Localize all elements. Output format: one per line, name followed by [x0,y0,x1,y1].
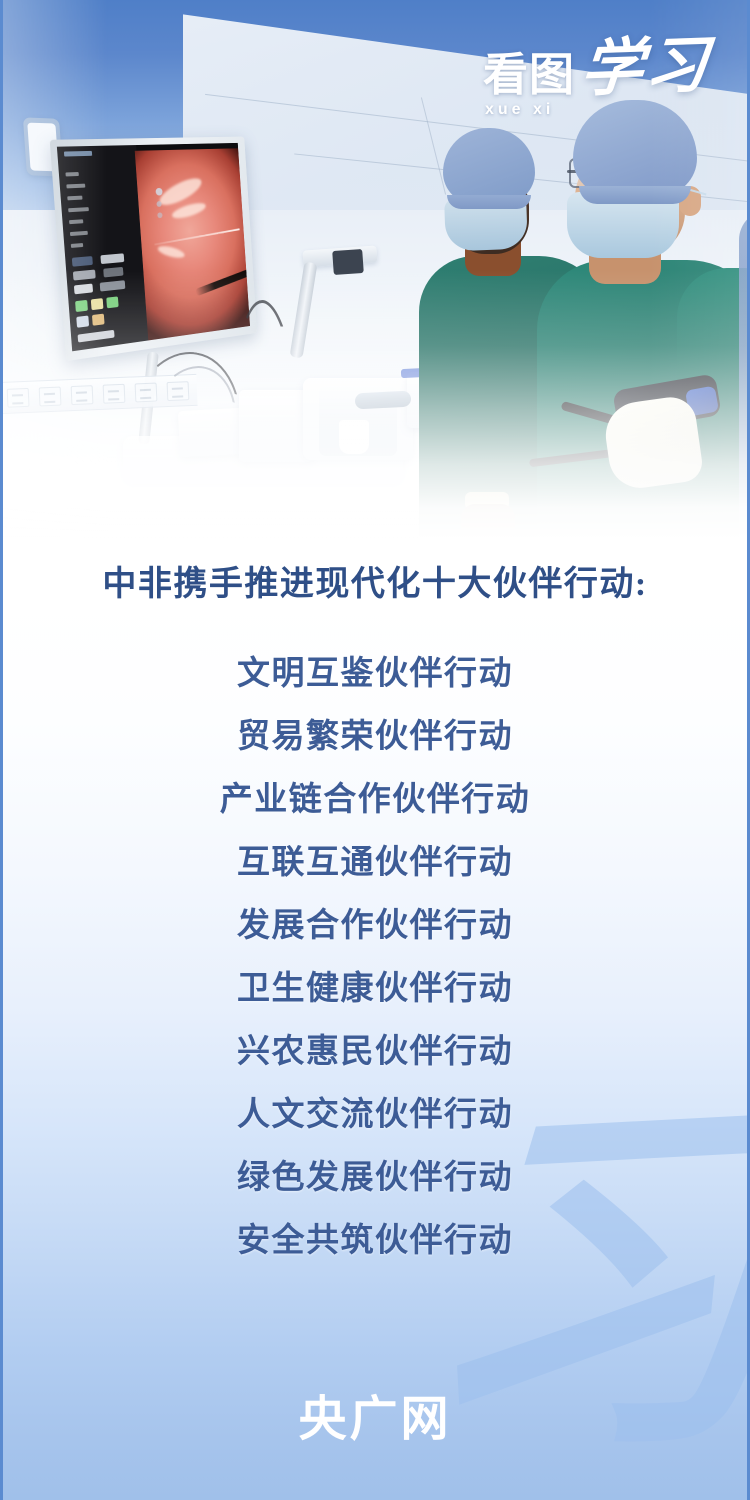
brand-logo: 看图 学习 xue xi [483,52,709,119]
list-item: 安全共筑伙伴行动 [3,1210,747,1273]
scope-shadow [195,270,248,297]
surgical-cap [443,128,535,204]
brand-logo-pinyin: xue xi [485,101,709,119]
surgeon-hand [461,504,515,540]
endoscopy-monitor [50,137,258,362]
surgeon-front [549,100,750,540]
endoscopy-image [135,148,250,340]
scope-wire [154,228,239,245]
footer: 央广网 [3,1340,747,1500]
monitor-bezel [50,137,258,362]
list-item: 文明互鉴伙伴行动 [3,643,747,706]
brand-logo-row: 看图 学习 [483,52,709,97]
brand-logo-primary: 看图 [483,52,575,97]
list-item: 互联互通伙伴行动 [3,832,747,895]
list-item: 发展合作伙伴行动 [3,895,747,958]
list-item: 人文交流伙伴行动 [3,1084,747,1147]
list-item: 产业链合作伙伴行动 [3,769,747,832]
footer-brand-logo: 央广网 [298,1396,451,1444]
list-item: 卫生健康伙伴行动 [3,958,747,1021]
list-item: 兴农惠民伙伴行动 [3,1021,747,1084]
monitor-brand-mark [64,151,92,157]
monitor-screen [57,143,250,351]
poster-root: 看图 学习 xue xi 习 中非携手推进现代化十大伙伴行动: 文明互鉴伙伴行动… [0,0,750,1500]
partnership-action-list: 文明互鉴伙伴行动 贸易繁荣伙伴行动 产业链合作伙伴行动 互联互通伙伴行动 发展合… [3,643,747,1273]
instrument-tray [355,391,412,410]
content-area: 中非携手推进现代化十大伙伴行动: 文明互鉴伙伴行动 贸易繁荣伙伴行动 产业链合作… [3,556,747,1273]
list-item: 贸易繁荣伙伴行动 [3,706,747,769]
surgical-glove [601,394,704,492]
brand-logo-script: 学习 [578,38,711,99]
boom-camera-head [332,249,364,275]
surgeon-partial [739,210,750,540]
console-notch [339,420,369,454]
page-title: 中非携手推进现代化十大伙伴行动: [3,556,747,605]
list-item: 绿色发展伙伴行动 [3,1147,747,1210]
